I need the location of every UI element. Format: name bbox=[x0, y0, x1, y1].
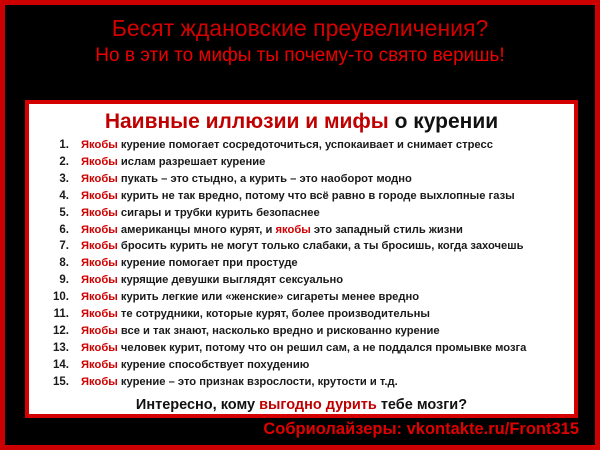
list-item-body: Якобы американцы много курят, и якобы эт… bbox=[81, 222, 568, 239]
list-item-body: Якобы все и так знают, насколько вредно … bbox=[81, 323, 568, 340]
list-item-number: 9. bbox=[35, 272, 81, 289]
list-item-number: 2. bbox=[35, 154, 81, 171]
list-item-number: 11. bbox=[35, 306, 81, 323]
list-item-number: 10. bbox=[35, 289, 81, 306]
list-item: 10. Якобы курить легкие или «женские» си… bbox=[35, 289, 568, 306]
list-item-prefix: Якобы bbox=[81, 325, 118, 337]
list-item-text: курить легкие или «женские» сигареты мен… bbox=[118, 291, 419, 303]
list-item-text: курение помогает сосредоточиться, успока… bbox=[118, 139, 493, 151]
list-item-number: 13. bbox=[35, 340, 81, 357]
list-item-prefix: Якобы bbox=[81, 274, 118, 286]
header-headline: Бесят ждановские преувеличения? bbox=[5, 13, 595, 43]
list-item-number: 8. bbox=[35, 255, 81, 272]
poster-root: Бесят ждановские преувеличения? Но в эти… bbox=[0, 0, 600, 450]
list-item: 13. Якобы человек курит, потому что он р… bbox=[35, 340, 568, 357]
list-item-prefix-secondary: якобы bbox=[276, 224, 311, 236]
list-item: 8. Якобы курение помогает при простуде bbox=[35, 255, 568, 272]
list-item-prefix: Якобы bbox=[81, 359, 118, 371]
list-item-text: курящие девушки выглядят сексуально bbox=[118, 274, 343, 286]
list-item-text: те сотрудники, которые курят, более прои… bbox=[118, 308, 430, 320]
list-item-text-secondary: это западный стиль жизни bbox=[311, 224, 463, 236]
list-item-body: Якобы курить не так вредно, потому что в… bbox=[81, 188, 568, 205]
closing-part1: Интересно, кому bbox=[136, 397, 259, 413]
list-item-prefix: Якобы bbox=[81, 342, 118, 354]
card-title-red: Наивные иллюзии и мифы bbox=[105, 110, 389, 133]
list-item-text: курение способствует похудению bbox=[118, 359, 309, 371]
list-item-text: курить не так вредно, потому что всё рав… bbox=[118, 190, 515, 202]
list-item: 3. Якобы пукать – это стыдно, а курить –… bbox=[35, 171, 568, 188]
list-item-text: все и так знают, насколько вредно и риск… bbox=[118, 325, 440, 337]
list-item-body: Якобы курение помогает при простуде bbox=[81, 255, 568, 272]
list-item-number: 14. bbox=[35, 357, 81, 374]
list-item-body: Якобы курение способствует похудению bbox=[81, 357, 568, 374]
list-item-number: 6. bbox=[35, 222, 81, 239]
list-item-body: Якобы пукать – это стыдно, а курить – эт… bbox=[81, 171, 568, 188]
list-item-body: Якобы ислам разрешает курение bbox=[81, 154, 568, 171]
list-item-text: курение помогает при простуде bbox=[118, 257, 298, 269]
list-item-body: Якобы курить легкие или «женские» сигаре… bbox=[81, 289, 568, 306]
list-item: 7. Якобы бросить курить не могут только … bbox=[35, 238, 568, 255]
card-title-black: о курении bbox=[389, 110, 498, 133]
list-item: 2. Якобы ислам разрешает курение bbox=[35, 154, 568, 171]
list-item: 5. Якобы сигары и трубки курить безопасн… bbox=[35, 205, 568, 222]
poster-footer: Собриолайзеры: vkontakte.ru/Front315 bbox=[5, 413, 595, 445]
list-item-prefix: Якобы bbox=[81, 173, 118, 185]
list-item-prefix: Якобы bbox=[81, 240, 118, 252]
list-item: 1. Якобы курение помогает сосредоточитьс… bbox=[35, 137, 568, 154]
list-item: 11. Якобы те сотрудники, которые курят, … bbox=[35, 306, 568, 323]
list-item-prefix: Якобы bbox=[81, 291, 118, 303]
list-item-body: Якобы курение – это признак взрослости, … bbox=[81, 374, 568, 391]
closing-part2: тебе мозги? bbox=[377, 397, 467, 413]
list-item-number: 1. bbox=[35, 137, 81, 154]
list-item: 6. Якобы американцы много курят, и якобы… bbox=[35, 222, 568, 239]
list-item-number: 15. bbox=[35, 374, 81, 391]
list-item-prefix: Якобы bbox=[81, 308, 118, 320]
list-item-number: 3. bbox=[35, 171, 81, 188]
list-item: 15. Якобы курение – это признак взрослос… bbox=[35, 374, 568, 391]
list-item-prefix: Якобы bbox=[81, 224, 118, 236]
list-item-prefix: Якобы bbox=[81, 156, 118, 168]
list-item-number: 5. bbox=[35, 205, 81, 222]
list-item-body: Якобы курящие девушки выглядят сексуальн… bbox=[81, 272, 568, 289]
list-item-text: бросить курить не могут только слабаки, … bbox=[118, 240, 524, 252]
list-item-body: Якобы сигары и трубки курить безопаснее bbox=[81, 205, 568, 222]
list-item-body: Якобы курение помогает сосредоточиться, … bbox=[81, 137, 568, 154]
list-item-prefix: Якобы bbox=[81, 139, 118, 151]
list-item-body: Якобы бросить курить не могут только сла… bbox=[81, 238, 568, 255]
list-item-text: курение – это признак взрослости, крутос… bbox=[118, 376, 398, 388]
list-item-number: 12. bbox=[35, 323, 81, 340]
list-item-prefix: Якобы bbox=[81, 190, 118, 202]
myths-card: Наивные иллюзии и мифы о курении 1. Якоб… bbox=[25, 100, 578, 418]
list-item: 4. Якобы курить не так вредно, потому чт… bbox=[35, 188, 568, 205]
list-item-text: пукать – это стыдно, а курить – это наоб… bbox=[118, 173, 412, 185]
list-item-prefix: Якобы bbox=[81, 207, 118, 219]
list-item: 12. Якобы все и так знают, насколько вре… bbox=[35, 323, 568, 340]
poster-header: Бесят ждановские преувеличения? Но в эти… bbox=[5, 5, 595, 69]
header-subheadline: Но в эти то мифы ты почему-то свято вери… bbox=[5, 43, 595, 69]
list-item-body: Якобы человек курит, потому что он решил… bbox=[81, 340, 568, 357]
list-item-number: 7. bbox=[35, 238, 81, 255]
list-item-prefix: Якобы bbox=[81, 376, 118, 388]
list-item: 14. Якобы курение способствует похудению bbox=[35, 357, 568, 374]
list-item-text: сигары и трубки курить безопаснее bbox=[118, 207, 320, 219]
footer-credit-link[interactable]: Собриолайзеры: vkontakte.ru/Front315 bbox=[263, 420, 579, 439]
list-item-text: человек курит, потому что он решил сам, … bbox=[118, 342, 527, 354]
closing-highlight: выгодно дурить bbox=[259, 397, 377, 413]
list-item: 9. Якобы курящие девушки выглядят сексуа… bbox=[35, 272, 568, 289]
list-item-text: ислам разрешает курение bbox=[118, 156, 266, 168]
list-item-text: американцы много курят, и bbox=[118, 224, 276, 236]
myths-list: 1. Якобы курение помогает сосредоточитьс… bbox=[35, 137, 568, 391]
card-title: Наивные иллюзии и мифы о курении bbox=[35, 108, 568, 135]
list-item-number: 4. bbox=[35, 188, 81, 205]
list-item-prefix: Якобы bbox=[81, 257, 118, 269]
list-item-body: Якобы те сотрудники, которые курят, боле… bbox=[81, 306, 568, 323]
